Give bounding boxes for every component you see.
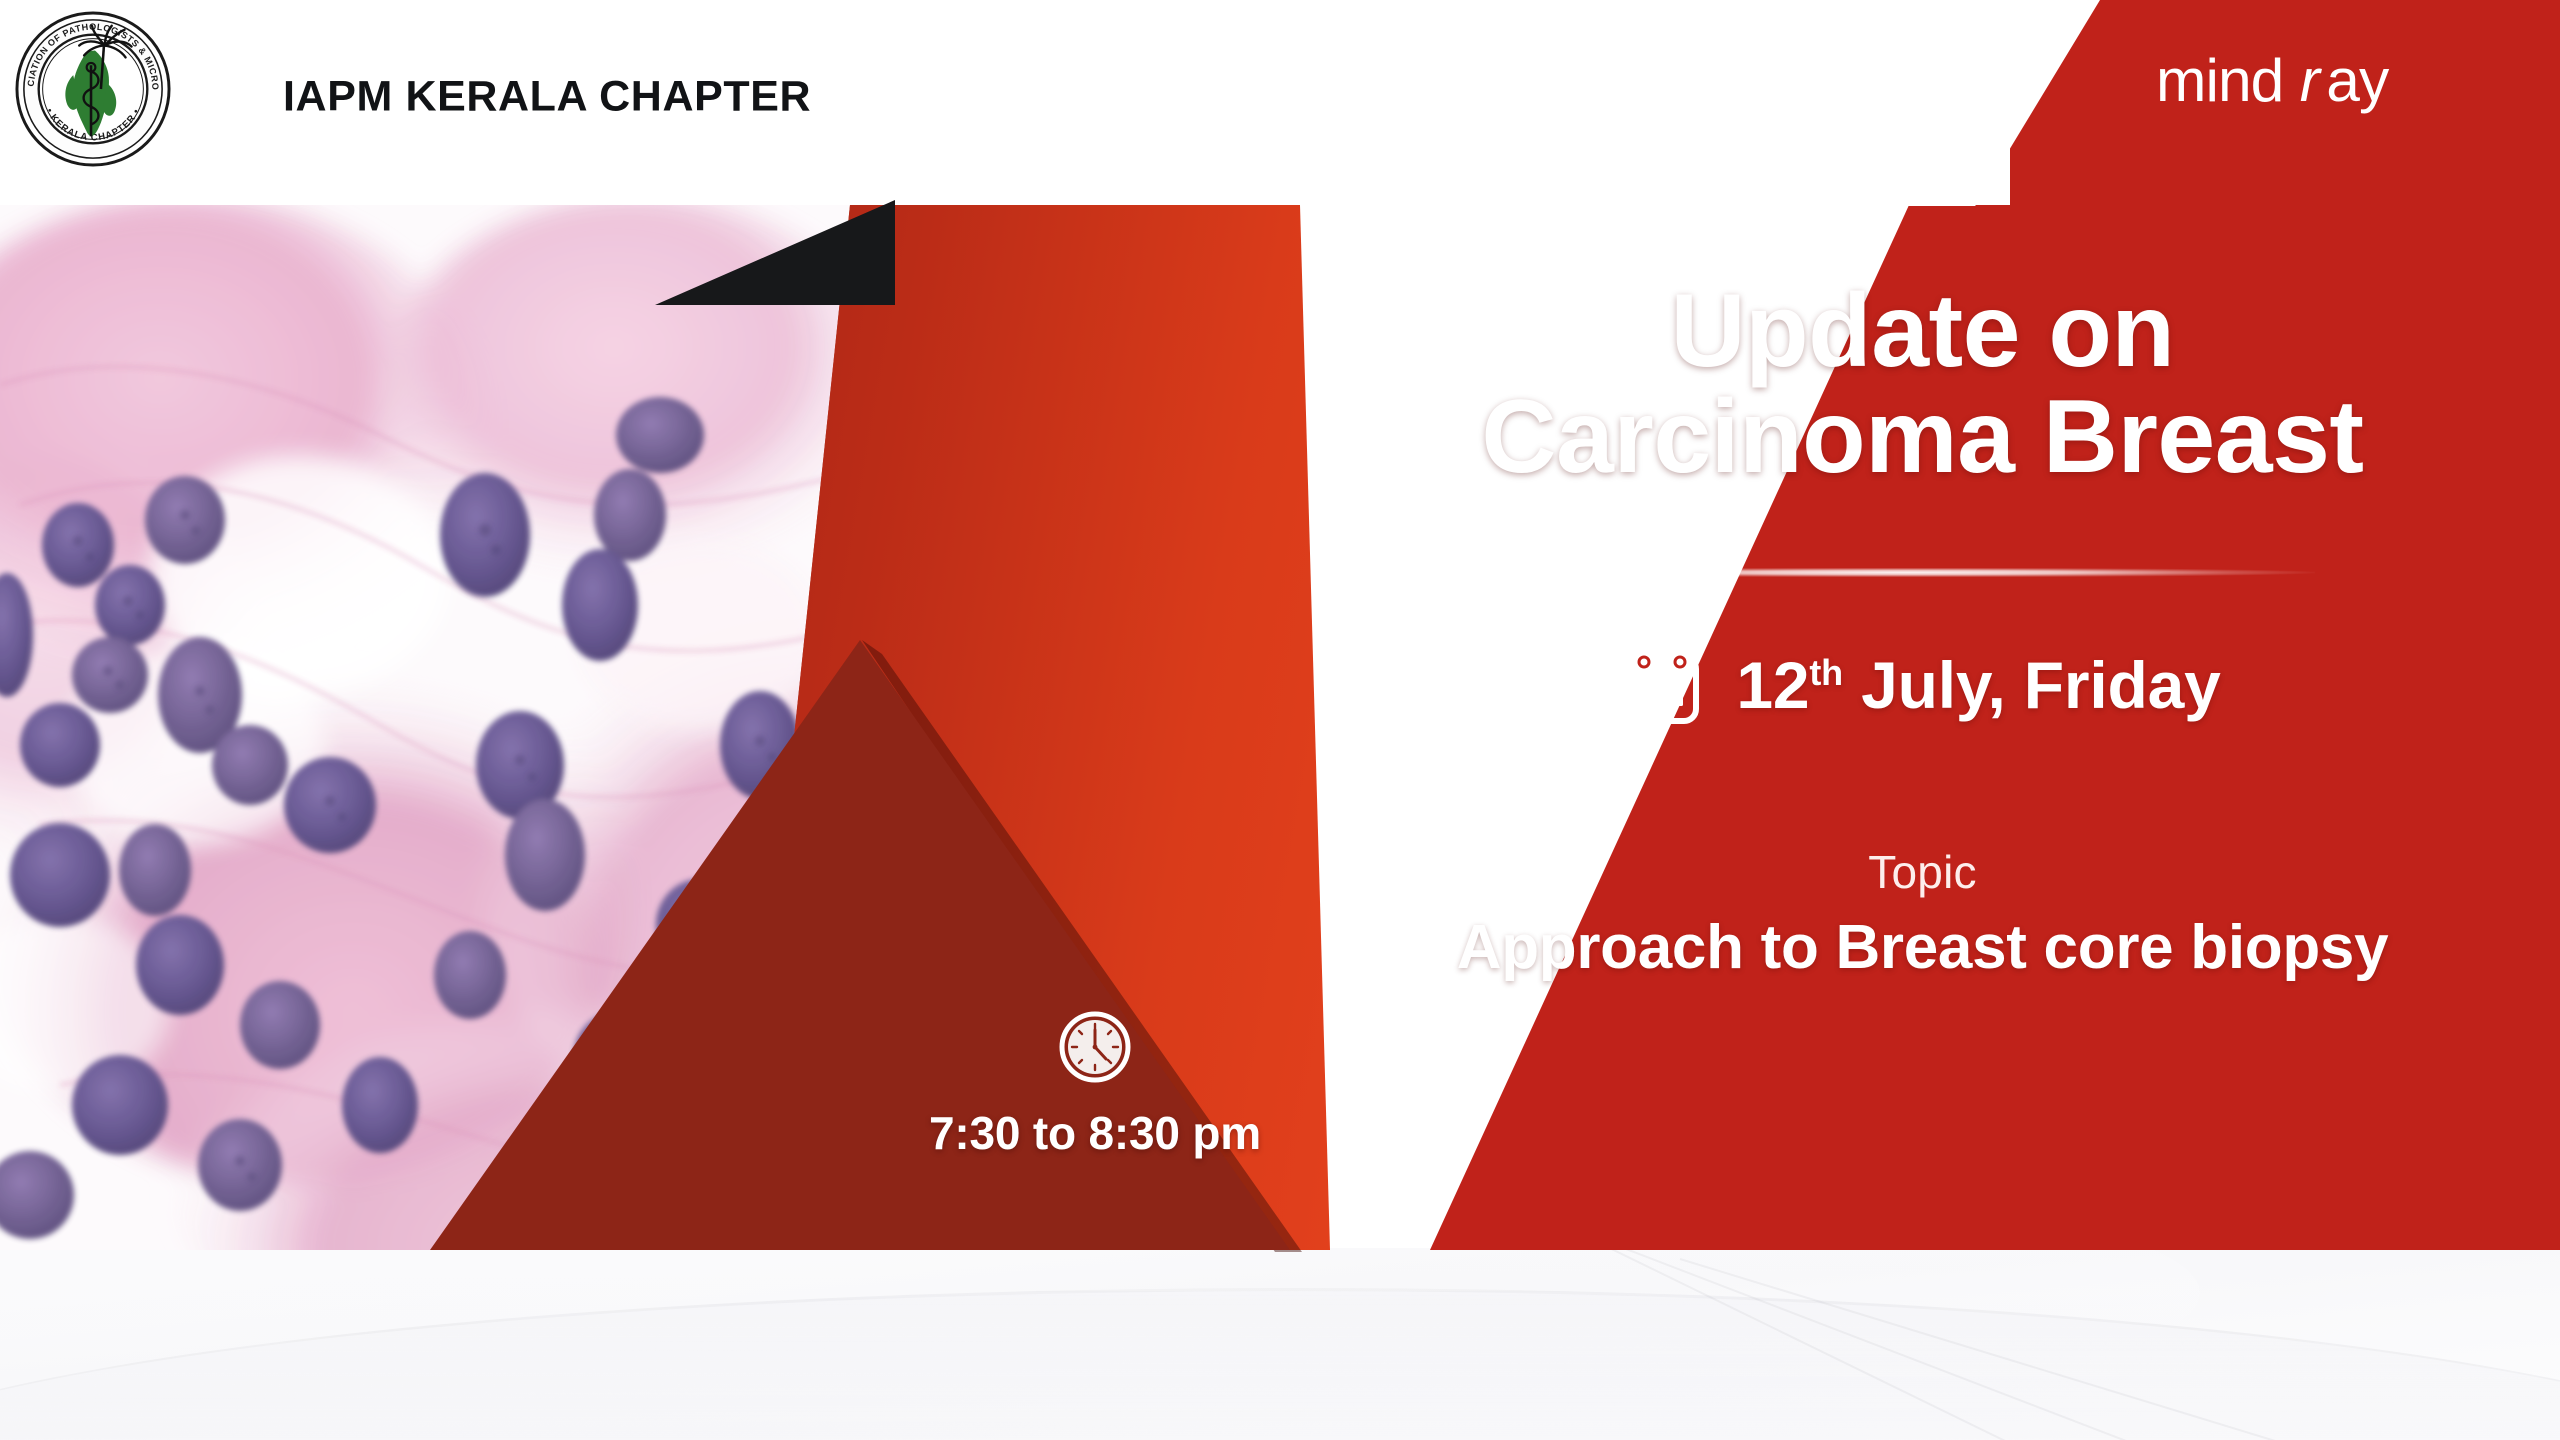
clock-icon: [1058, 1010, 1132, 1084]
bottom-decorative-area: [0, 1248, 2560, 1440]
event-title-line-1: Update on: [1671, 273, 2175, 389]
svg-text:r: r: [2300, 48, 2323, 114]
calendar-icon: [1624, 645, 1700, 725]
event-date-day: 12: [1736, 648, 1809, 722]
topic-label: Topic: [1350, 845, 2495, 899]
mindray-logo: mind r ay: [2156, 48, 2468, 118]
svg-text:mind: mind: [2156, 48, 2283, 114]
svg-text:ay: ay: [2326, 48, 2390, 114]
event-date-ordinal: th: [1809, 652, 1843, 693]
organization-title: IAPM KERALA CHAPTER: [283, 73, 811, 122]
event-date-row: 12th July, Friday: [1350, 645, 2495, 725]
event-title: Update on Carcinoma Breast: [1350, 278, 2495, 490]
event-time-block: 7:30 to 8:30 pm: [860, 1010, 1330, 1160]
topic-value: Approach to Breast core biopsy: [1350, 912, 2495, 983]
event-details-column: Update on Carcinoma Breast: [1350, 0, 2495, 1250]
event-banner: INDIAN ASSOCIATION OF PATHOLOGISTS & MIC…: [0, 0, 2560, 1440]
iapm-kerala-seal-icon: INDIAN ASSOCIATION OF PATHOLOGISTS & MIC…: [14, 10, 172, 168]
event-date-month: July, Friday: [1843, 648, 2221, 722]
event-title-line-2: Carcinoma Breast: [1350, 384, 2495, 490]
title-divider: [1495, 568, 2315, 577]
event-time-text: 7:30 to 8:30 pm: [860, 1106, 1330, 1160]
event-date-text: 12th July, Friday: [1736, 647, 2220, 723]
